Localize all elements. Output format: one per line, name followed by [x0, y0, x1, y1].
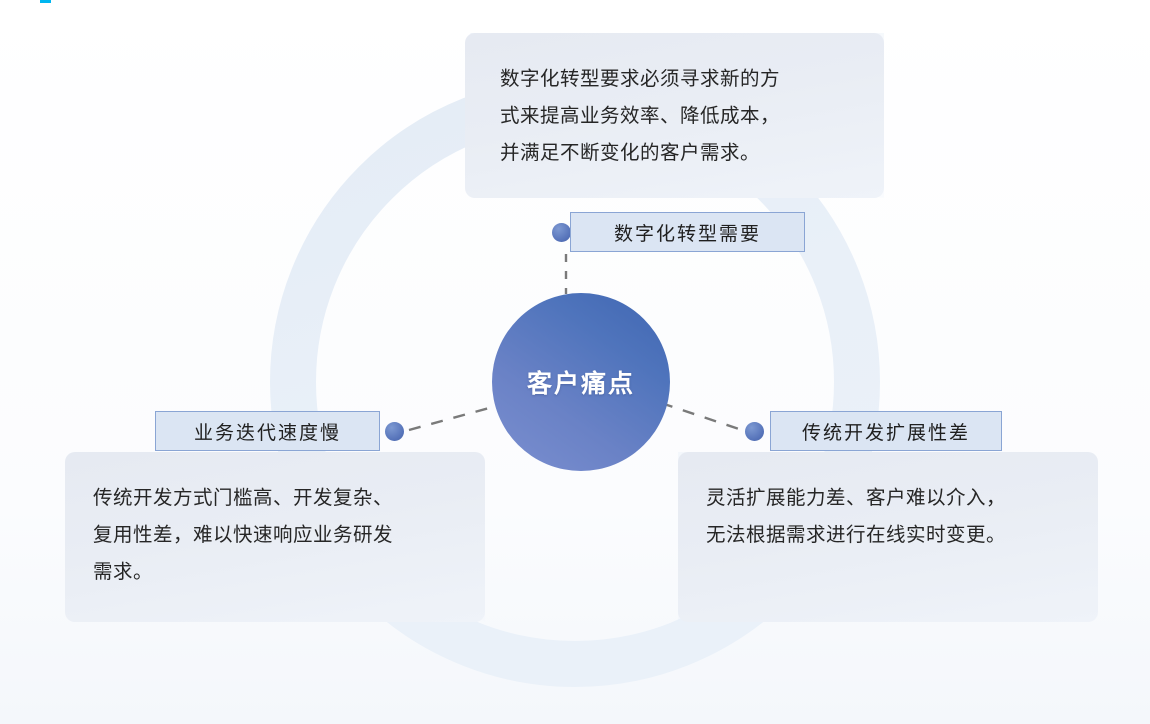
connector-left	[409, 405, 500, 430]
node-body-right: 灵活扩展能力差、客户难以介入， 无法根据需求进行在线实时变更。	[678, 452, 1098, 554]
node-card-left: 传统开发方式门槛高、开发复杂、 复用性差，难以快速响应业务研发 需求。	[65, 452, 485, 622]
node-chip-left[interactable]: 业务迭代速度慢	[155, 411, 380, 451]
node-body-top: 数字化转型要求必须寻求新的方 式来提高业务效率、降低成本， 并满足不断变化的客户…	[465, 33, 884, 172]
hub-label: 客户痛点	[527, 364, 635, 400]
diagram-canvas: 数字化转型要求必须寻求新的方 式来提高业务效率、降低成本， 并满足不断变化的客户…	[0, 0, 1150, 724]
node-dot-top	[552, 223, 571, 242]
node-body-left: 传统开发方式门槛高、开发复杂、 复用性差，难以快速响应业务研发 需求。	[65, 452, 485, 591]
node-dot-left	[385, 422, 404, 441]
node-label-top: 数字化转型需要	[614, 219, 761, 246]
node-card-right: 灵活扩展能力差、客户难以介入， 无法根据需求进行在线实时变更。	[678, 452, 1098, 622]
connector-right	[661, 403, 742, 430]
corner-marker-icon	[40, 0, 51, 3]
node-card-top: 数字化转型要求必须寻求新的方 式来提高业务效率、降低成本， 并满足不断变化的客户…	[465, 33, 884, 198]
node-chip-right[interactable]: 传统开发扩展性差	[770, 411, 1002, 451]
node-dot-right	[745, 422, 764, 441]
node-label-right: 传统开发扩展性差	[802, 418, 970, 445]
node-chip-top[interactable]: 数字化转型需要	[570, 212, 805, 252]
node-label-left: 业务迭代速度慢	[194, 418, 341, 445]
hub-circle[interactable]: 客户痛点	[492, 293, 670, 471]
